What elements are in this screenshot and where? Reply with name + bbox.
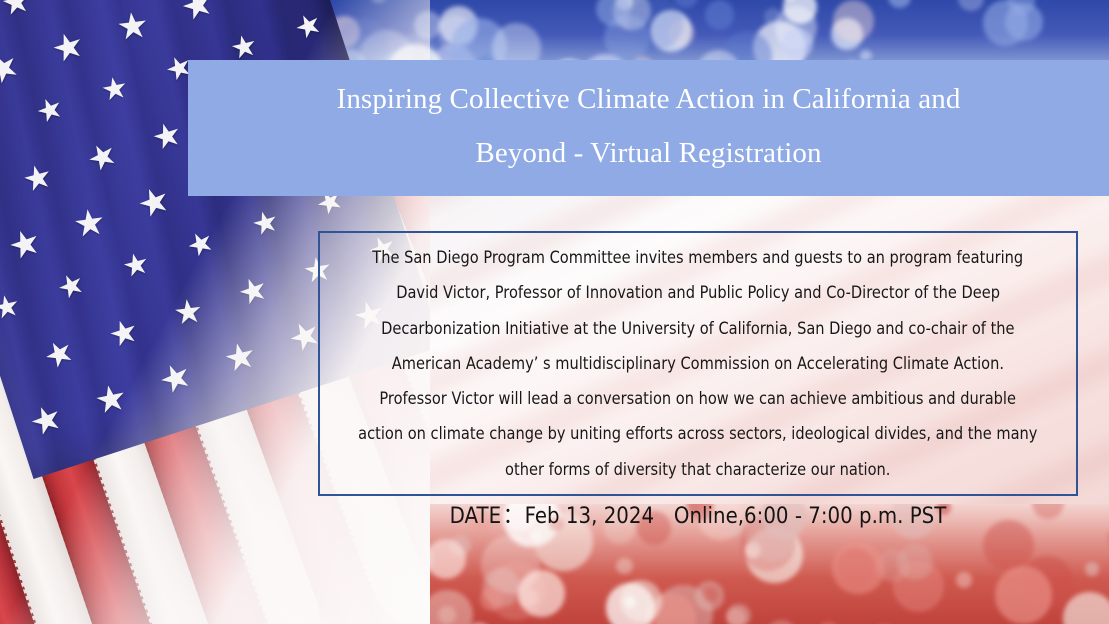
bokeh-circle [480,587,503,610]
bokeh-circle [764,8,782,26]
bokeh-circle [727,604,750,624]
bokeh-circle [765,620,798,624]
description-line: Decarbonization Initiative at the Univer… [381,311,1014,346]
bokeh-circle [530,530,542,542]
description-box: The San Diego Program Committee invites … [318,231,1078,496]
event-date-time: DATE：Feb 13, 2024Online,6:00 - 7:00 p.m.… [356,498,1040,530]
bokeh-circle [426,539,466,579]
bokeh-circle [705,0,734,29]
bokeh-circle [726,608,746,624]
bokeh-circle [746,527,802,583]
description-line: The San Diego Program Committee invites … [373,240,1024,275]
bokeh-circle [616,558,633,575]
bokeh-circle [832,542,885,595]
title-line-1: Inspiring Collective Climate Action in C… [337,72,961,126]
event-flyer: ★★★★★★★★★★★★★★★★★★ ★★★★★★★★★★★★★★★★★★★★★… [0,0,1109,624]
description-line: American Academy’ s multidisciplinary Co… [392,346,1004,381]
bokeh-circle [833,0,874,41]
bokeh-circle [745,542,761,558]
bokeh-circle [518,570,565,617]
bokeh-circle [703,587,718,602]
bokeh-circle [646,593,696,624]
bokeh-circle [1063,592,1109,624]
bokeh-circle [876,549,910,583]
date-label: DATE [450,504,502,529]
description-line: action on climate change by uniting effo… [358,416,1037,451]
bokeh-circle [620,580,662,622]
bokeh-circle [654,585,713,624]
bokeh-circle [1085,562,1099,576]
bokeh-circle [519,588,538,607]
title-banner: Inspiring Collective Climate Action in C… [188,60,1109,196]
bokeh-circle [995,566,1053,624]
description-line: David Victor, Professor of Innovation an… [396,275,1000,310]
bokeh-circle [482,568,521,607]
bokeh-circle [450,535,471,556]
date-value: Feb 13, 2024 [525,504,655,529]
bokeh-circle [888,0,911,8]
location-time: Online,6:00 - 7:00 p.m. PST [674,504,946,529]
date-separator: ： [501,504,524,529]
bokeh-circle [893,561,944,612]
bokeh-circle [487,562,544,619]
bokeh-circle [782,28,813,59]
bokeh-circle [624,596,636,608]
bokeh-circle [481,535,540,594]
bokeh-circle [695,581,724,610]
bokeh-circle [606,583,656,624]
bokeh-circle [897,544,933,580]
description-line: Professor Victor will lead a conversatio… [380,381,1017,416]
bokeh-circle [956,572,972,588]
bokeh-circle [438,606,455,623]
bokeh-circle [1021,556,1073,608]
description-line: other forms of diversity that characteri… [505,452,890,487]
bokeh-circle [958,0,984,11]
title-line-2: Beyond - Virtual Registration [475,126,821,180]
bokeh-circle [837,548,873,584]
bokeh-circle [629,0,683,50]
